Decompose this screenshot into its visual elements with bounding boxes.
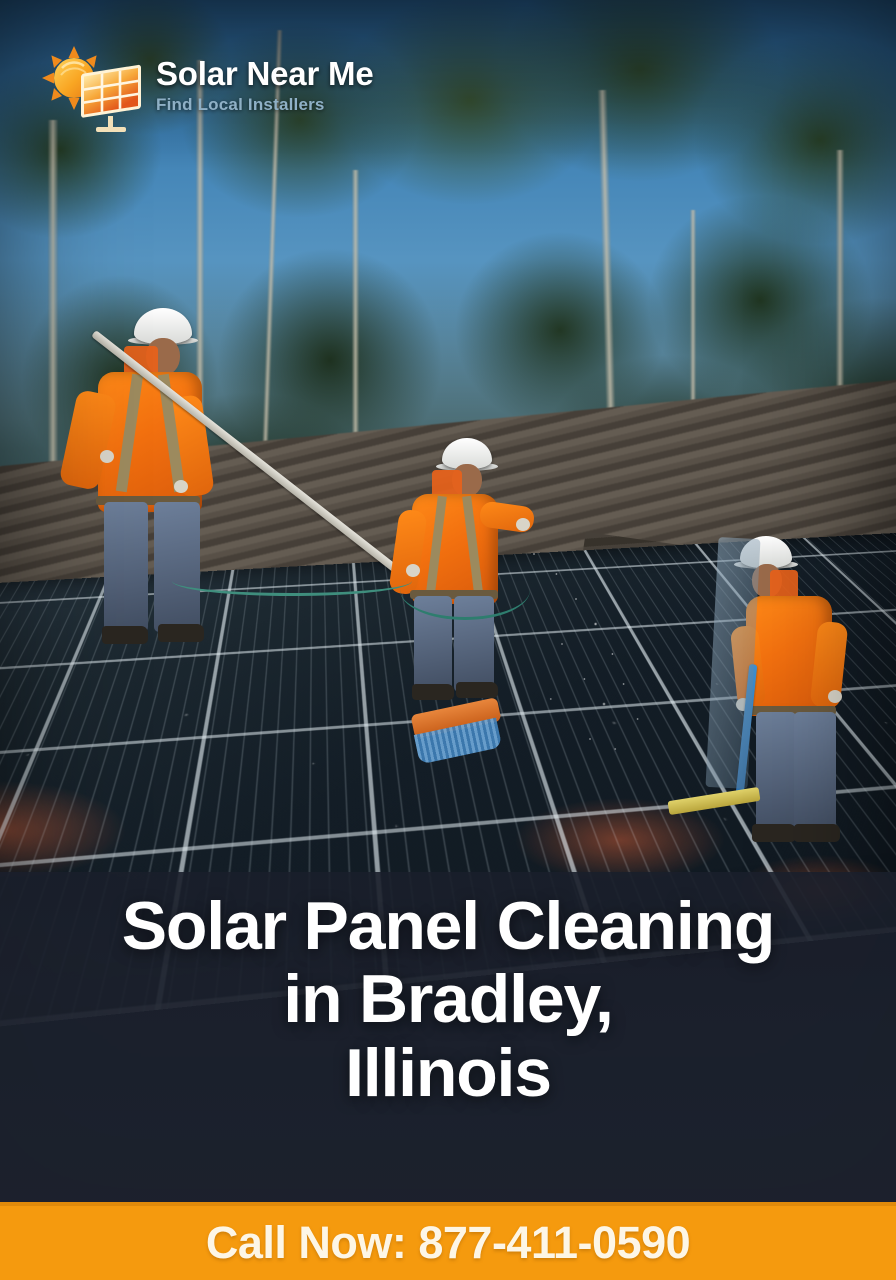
worker-left [62, 300, 242, 660]
worker-leg [756, 712, 796, 832]
page-title: Solar Panel Cleaning in Bradley, Illinoi… [0, 890, 896, 1110]
worker-boot [158, 624, 204, 642]
worker-leg [794, 712, 836, 832]
sun-solar-panel-icon [38, 40, 144, 132]
water-hose [172, 566, 412, 596]
logo[interactable]: Solar Near Me Find Local Installers [38, 40, 374, 132]
headline-line-3: Illinois [16, 1037, 880, 1110]
worker-boot [102, 626, 148, 644]
solar-cleaning-poster: Solar Near Me Find Local Installers Sola… [0, 0, 896, 1280]
headline-line-1: Solar Panel Cleaning [16, 890, 880, 963]
brand-tagline: Find Local Installers [156, 95, 374, 115]
worker-boot [794, 824, 840, 842]
water-hose [400, 560, 530, 620]
logo-text-block: Solar Near Me Find Local Installers [156, 57, 374, 115]
worker-boot [456, 682, 498, 698]
brand-name: Solar Near Me [156, 57, 374, 92]
headline-line-2: in Bradley, [16, 963, 880, 1036]
call-now-bar[interactable]: Call Now: 877-411-0590 [0, 1202, 896, 1280]
water-spray [520, 524, 660, 774]
work-glove [174, 480, 188, 493]
worker-boot [412, 684, 454, 700]
work-glove [828, 690, 842, 703]
work-glove [100, 450, 114, 463]
worker-boot [752, 824, 796, 842]
worker-leg [104, 502, 148, 632]
call-now-label[interactable]: Call Now: 877-411-0590 [206, 1217, 690, 1269]
